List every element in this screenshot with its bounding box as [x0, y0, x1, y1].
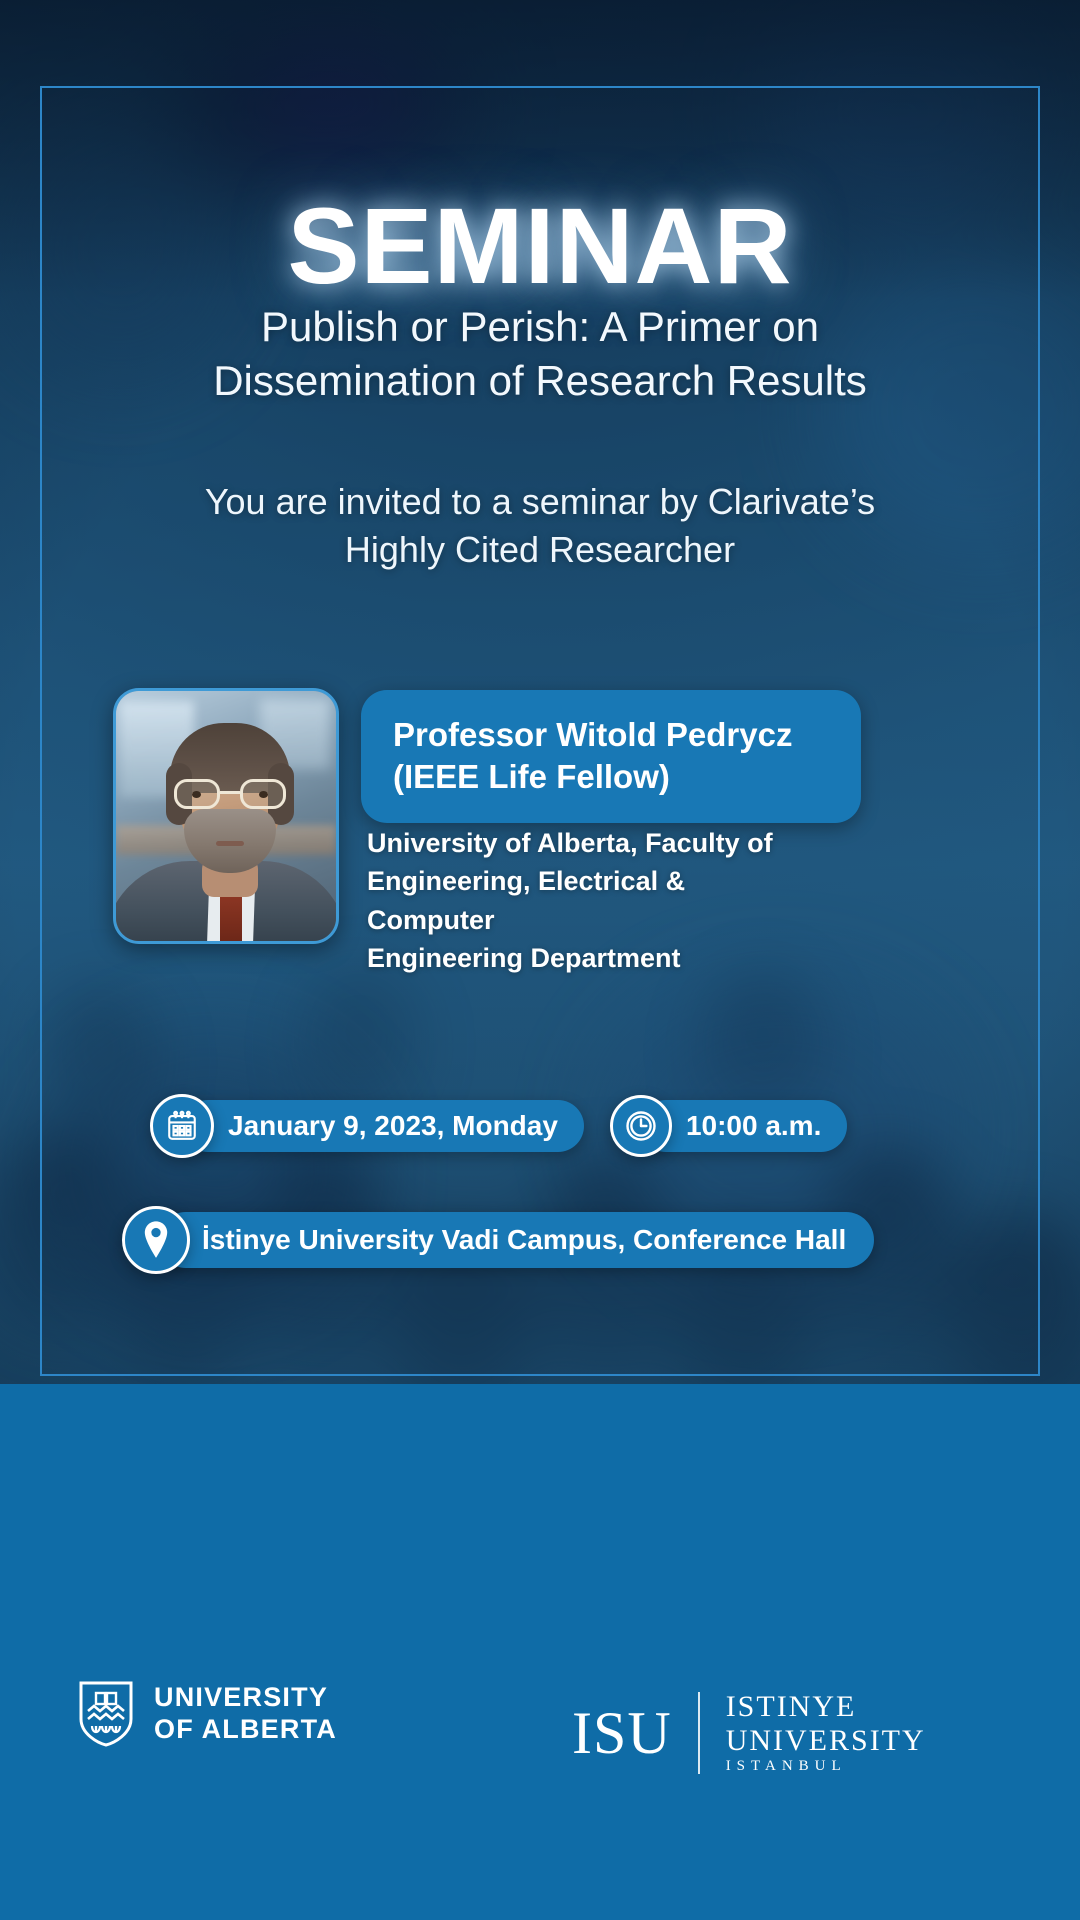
date-pill: January 9, 2023, Monday	[182, 1100, 584, 1152]
invitation-text: You are invited to a seminar by Clarivat…	[110, 478, 970, 574]
clock-icon	[610, 1095, 672, 1157]
subtitle-line-1: Publish or Perish: A Primer on	[120, 300, 960, 354]
affiliation-line-2: Engineering, Electrical & Computer	[367, 862, 817, 939]
speaker-name-badge: Professor Witold Pedrycz (IEEE Life Fell…	[361, 690, 861, 823]
location-pill: İstinye University Vadi Campus, Conferen…	[158, 1212, 874, 1268]
map-pin-icon	[122, 1206, 190, 1274]
affiliation-line-3: Engineering Department	[367, 939, 817, 977]
isu-logo-line-2: UNIVERSITY	[726, 1724, 926, 1758]
speaker-affiliation: University of Alberta, Faculty of Engine…	[367, 824, 817, 977]
speaker-name-line-1: Professor Witold Pedrycz	[393, 714, 833, 756]
page-title: SEMINAR	[0, 192, 1080, 300]
seminar-time: 10:00 a.m.	[686, 1112, 821, 1140]
isu-mark: ISU	[572, 1703, 698, 1763]
location-row: İstinye University Vadi Campus, Conferen…	[122, 1206, 874, 1274]
date-time-row: January 9, 2023, Monday 10:00 a.m.	[150, 1094, 847, 1158]
isu-logo-line-1: ISTINYE	[726, 1690, 926, 1724]
speaker-photo	[113, 688, 339, 944]
calendar-icon	[150, 1094, 214, 1158]
footer-bar	[0, 1384, 1080, 1920]
invitation-line-1: You are invited to a seminar by Clarivat…	[110, 478, 970, 526]
alberta-shield-icon	[78, 1680, 134, 1748]
seminar-date: January 9, 2023, Monday	[228, 1112, 558, 1140]
seminar-location: İstinye University Vadi Campus, Conferen…	[202, 1226, 846, 1254]
alberta-logo-line-2: OF ALBERTA	[154, 1714, 337, 1746]
seminar-poster: SEMINAR Publish or Perish: A Primer on D…	[0, 0, 1080, 1920]
speaker-name-line-2: (IEEE Life Fellow)	[393, 756, 833, 798]
istinye-university-logo: ISU ISTINYE UNIVERSITY ISTANBUL	[572, 1690, 926, 1775]
affiliation-line-1: University of Alberta, Faculty of	[367, 824, 817, 862]
university-of-alberta-logo: UNIVERSITY OF ALBERTA	[78, 1680, 337, 1748]
subtitle-line-2: Dissemination of Research Results	[120, 354, 960, 408]
invitation-line-2: Highly Cited Researcher	[110, 526, 970, 574]
alberta-logo-line-1: UNIVERSITY	[154, 1682, 337, 1714]
seminar-subtitle: Publish or Perish: A Primer on Dissemina…	[120, 300, 960, 408]
isu-divider	[698, 1692, 700, 1774]
isu-logo-line-3: ISTANBUL	[726, 1758, 926, 1775]
